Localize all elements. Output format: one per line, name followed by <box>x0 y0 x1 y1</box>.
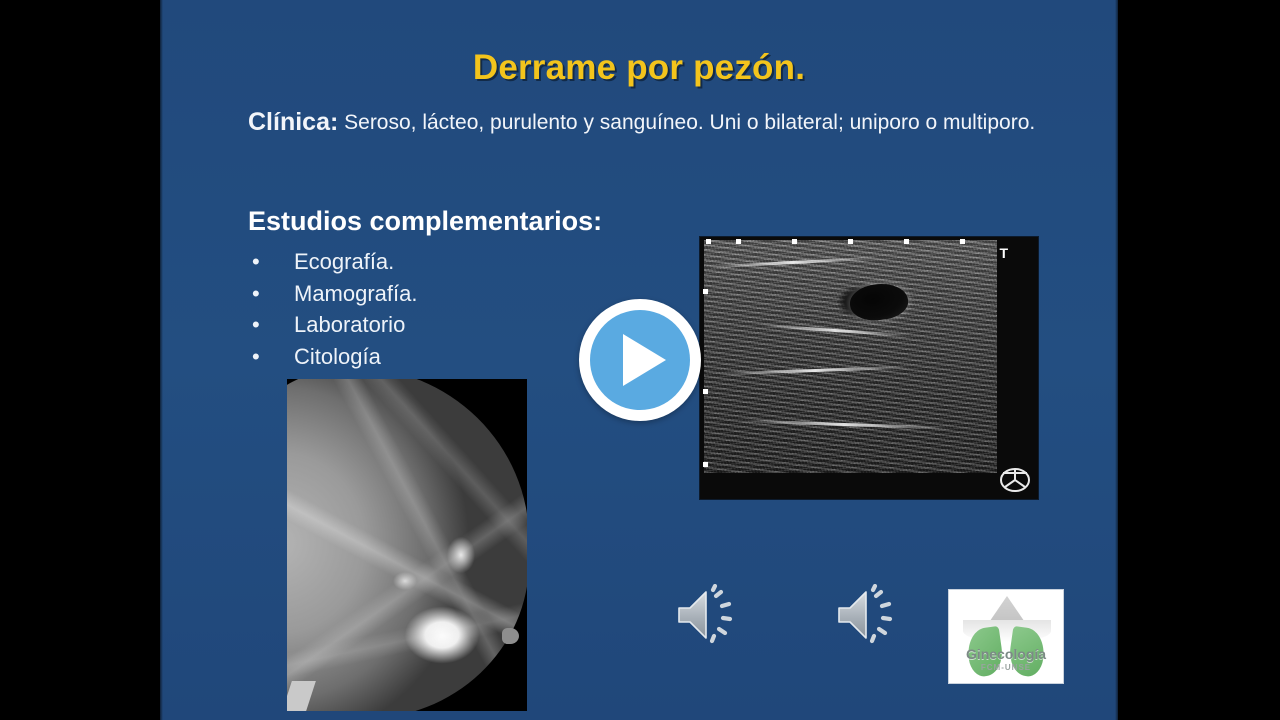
logo-inner: Ginecología FCM-UNSE <box>949 590 1063 683</box>
list-item: • Citología <box>248 341 418 373</box>
clinica-label: Clínica: <box>248 108 338 136</box>
play-button-ring <box>579 299 701 421</box>
list-item: • Mamografía. <box>248 278 418 310</box>
speaker-audio-icon[interactable] <box>674 584 746 646</box>
ultrasound-depth-tick <box>703 462 708 467</box>
list-item: • Ecografía. <box>248 246 418 278</box>
play-button-circle <box>590 310 690 410</box>
ultrasound-scale-tick <box>904 239 909 244</box>
presentation-slide: Derrame por pezón. Clínica: Seroso, láct… <box>160 0 1118 720</box>
ultrasound-depth-tick <box>703 289 708 294</box>
slide-title: Derrame por pezón. <box>160 48 1118 88</box>
ultrasound-scale-tick <box>706 239 711 244</box>
mammogram-image <box>287 379 527 711</box>
list-item: • Laboratorio <box>248 309 418 341</box>
ultrasound-orientation-marker: T <box>999 246 1008 260</box>
logo-subtitle: FCM-UNSE <box>949 663 1063 672</box>
list-item-label: Mamografía. <box>294 281 418 306</box>
mammogram-fibrous-strands <box>287 379 527 711</box>
ultrasound-image: T <box>700 237 1038 499</box>
list-item-label: Ecografía. <box>294 249 394 274</box>
ultrasound-tissue <box>704 240 997 473</box>
bullet-icon: • <box>252 278 260 310</box>
bullet-icon: • <box>252 246 260 278</box>
probe-orientation-icon <box>998 464 1032 494</box>
clinica-body: Seroso, lácteo, purulento y sanguíneo. U… <box>338 111 1035 134</box>
clinica-paragraph: Clínica: Seroso, lácteo, purulento y san… <box>248 104 1048 142</box>
estudios-list: • Ecografía. • Mamografía. • Laboratorio… <box>248 246 418 372</box>
list-item-label: Citología <box>294 344 381 369</box>
screen: Derrame por pezón. Clínica: Seroso, láct… <box>0 0 1280 720</box>
ultrasound-scale-tick <box>792 239 797 244</box>
bullet-icon: • <box>252 341 260 373</box>
ultrasound-scale-tick <box>960 239 965 244</box>
ginecologia-logo: Ginecología FCM-UNSE <box>948 589 1064 684</box>
speaker-audio-icon[interactable] <box>834 584 906 646</box>
list-item-label: Laboratorio <box>294 312 405 337</box>
ultrasound-scale-tick <box>848 239 853 244</box>
play-icon <box>623 334 666 386</box>
mammogram-nipple <box>502 628 519 644</box>
estudios-heading: Estudios complementarios: <box>248 206 602 237</box>
bullet-icon: • <box>252 309 260 341</box>
play-button[interactable] <box>571 299 709 421</box>
logo-title: Ginecología <box>949 646 1063 662</box>
ultrasound-scale-tick <box>736 239 741 244</box>
